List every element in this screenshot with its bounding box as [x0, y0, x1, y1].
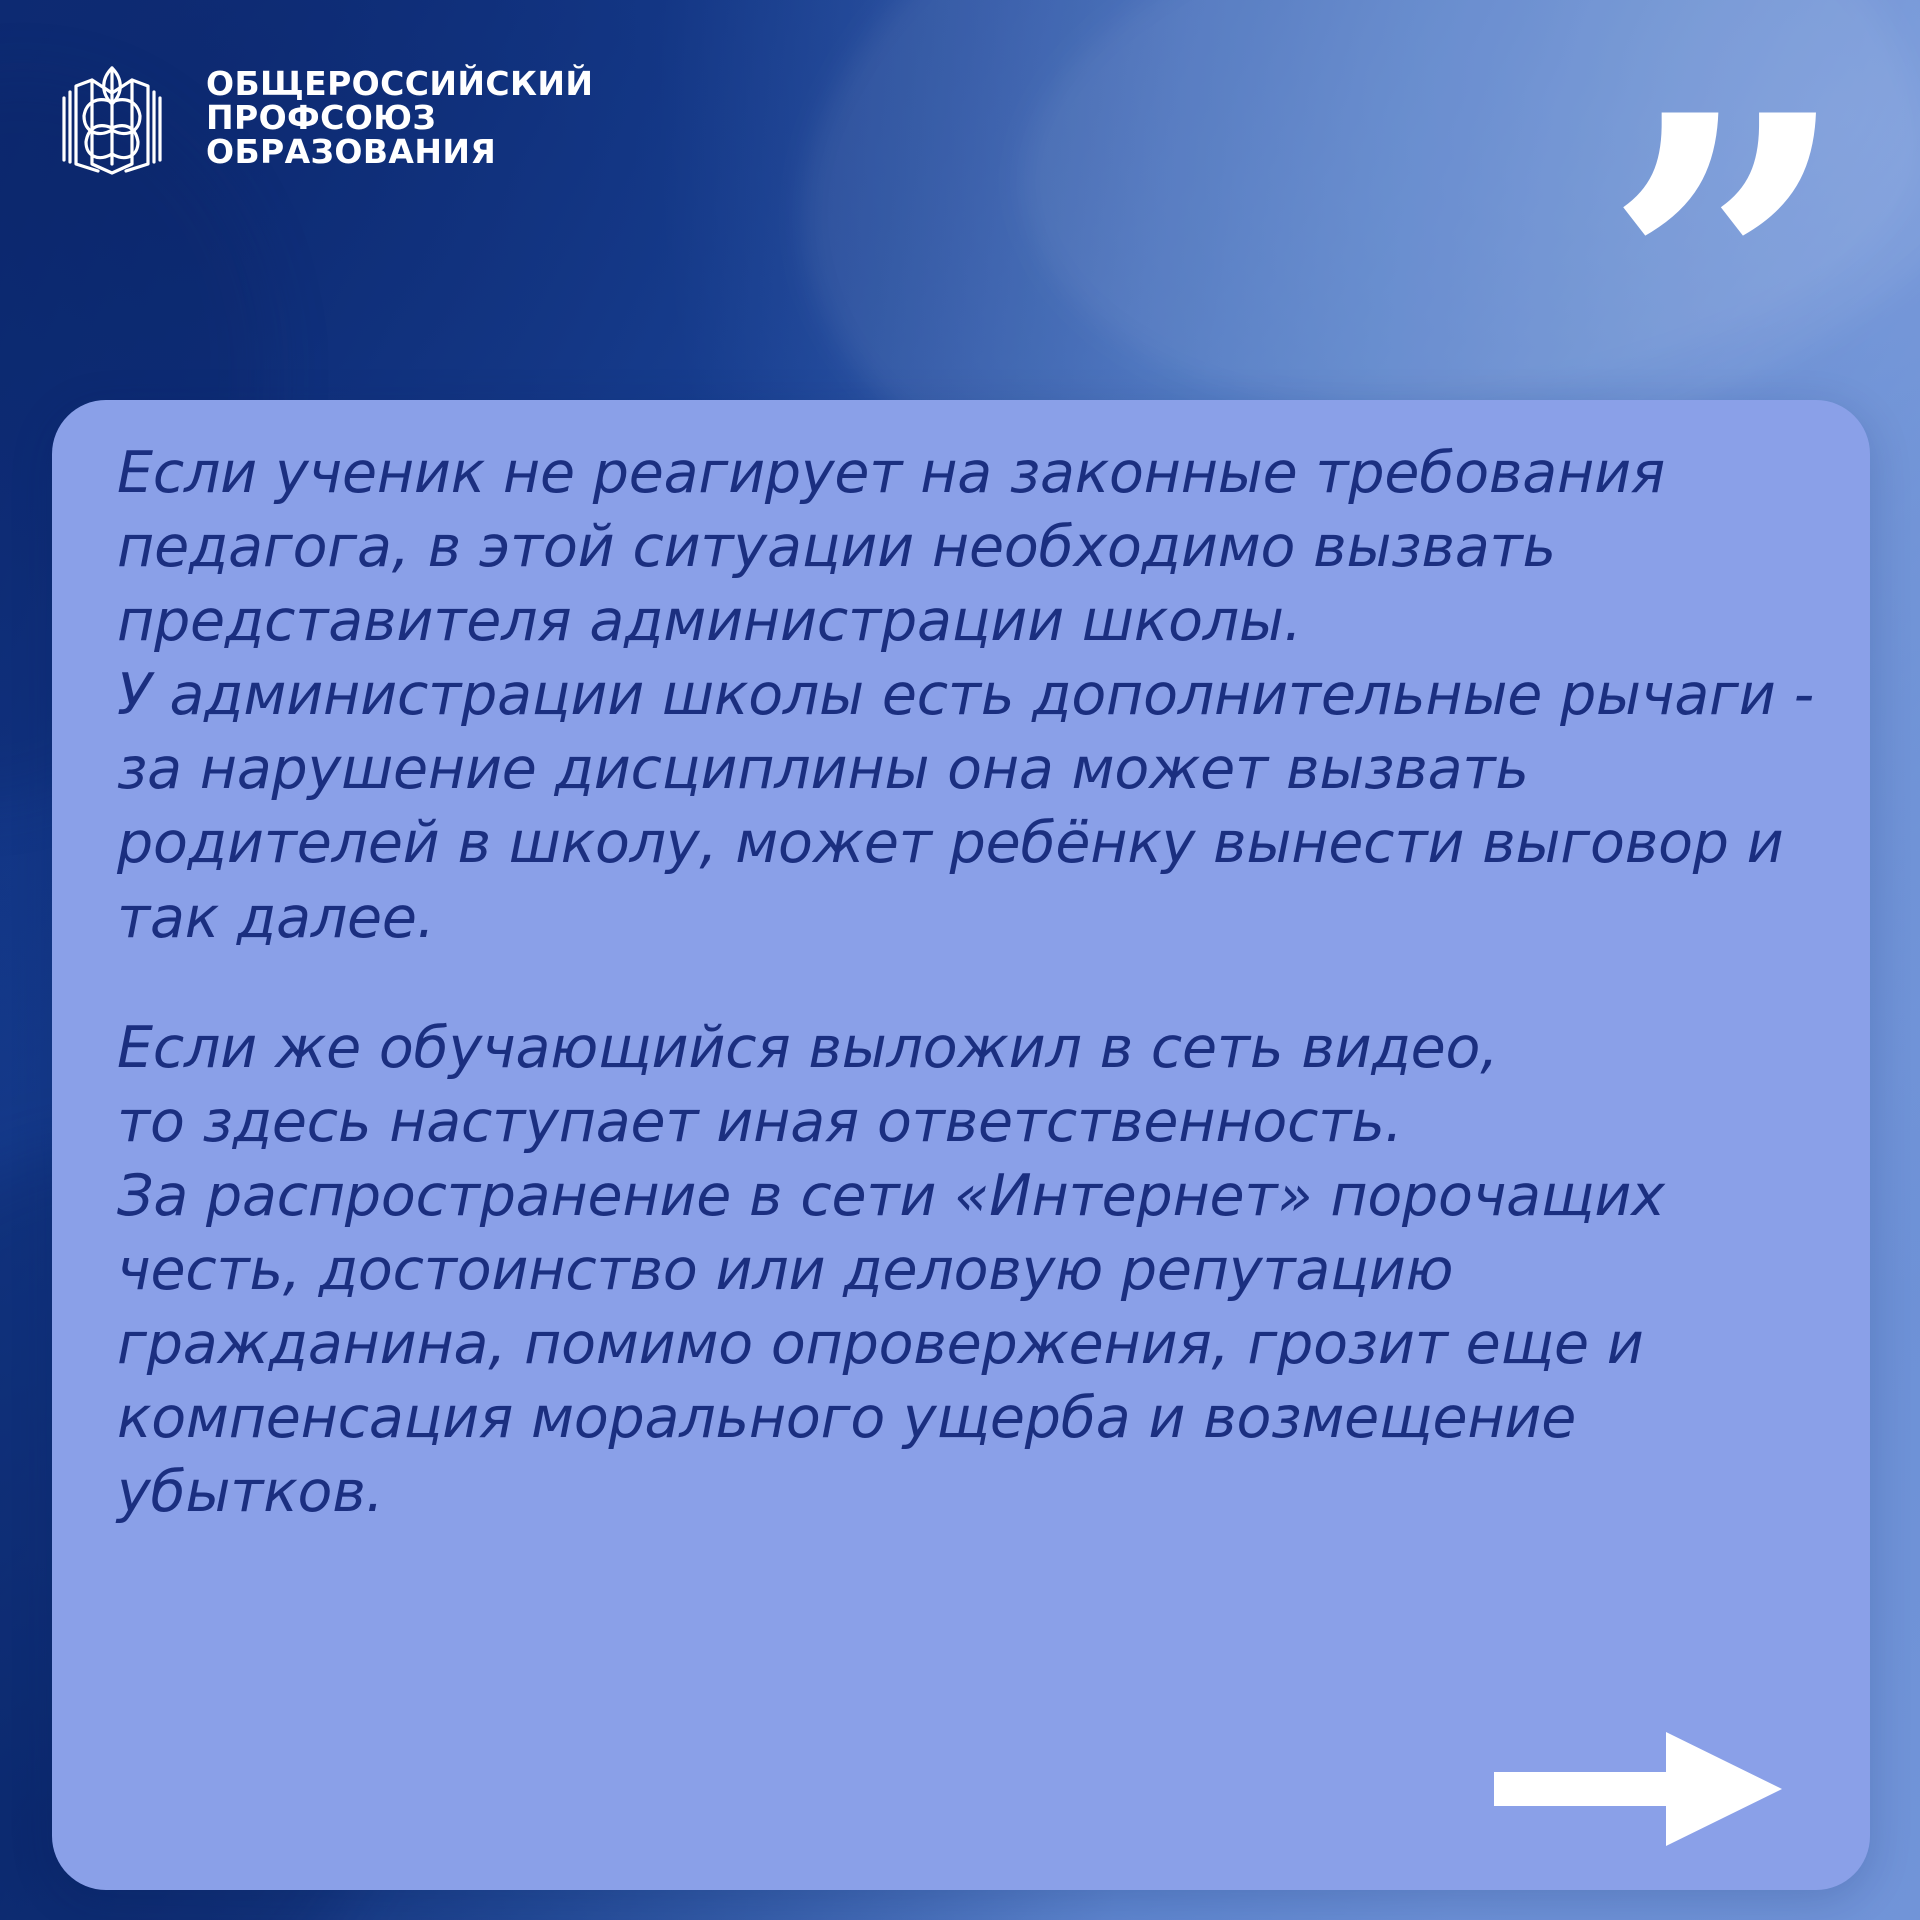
arrow-right-icon[interactable] [1494, 1730, 1784, 1848]
quote-paragraph-2: Если же обучающийся выложил в сеть видео… [72, 1011, 1822, 1530]
open-book-wheat-logo-icon [46, 52, 178, 184]
brand-name: ОБЩЕРОССИЙСКИЙ ПРОФСОЮЗ ОБРАЗОВАНИЯ [206, 67, 593, 170]
quote-card-content: Если ученик не реагирует на законные тре… [72, 436, 1822, 1529]
quote-mark-icon: ” [1603, 108, 1850, 443]
quote-paragraph-1: Если ученик не реагирует на законные тре… [72, 436, 1822, 955]
brand-logo: ОБЩЕРОССИЙСКИЙ ПРОФСОЮЗ ОБРАЗОВАНИЯ [46, 52, 593, 184]
quote-card: Если ученик не реагирует на законные тре… [52, 400, 1870, 1890]
poster-canvas: ОБЩЕРОССИЙСКИЙ ПРОФСОЮЗ ОБРАЗОВАНИЯ ” Ес… [0, 0, 1920, 1920]
paragraph-spacer [72, 955, 1822, 1011]
